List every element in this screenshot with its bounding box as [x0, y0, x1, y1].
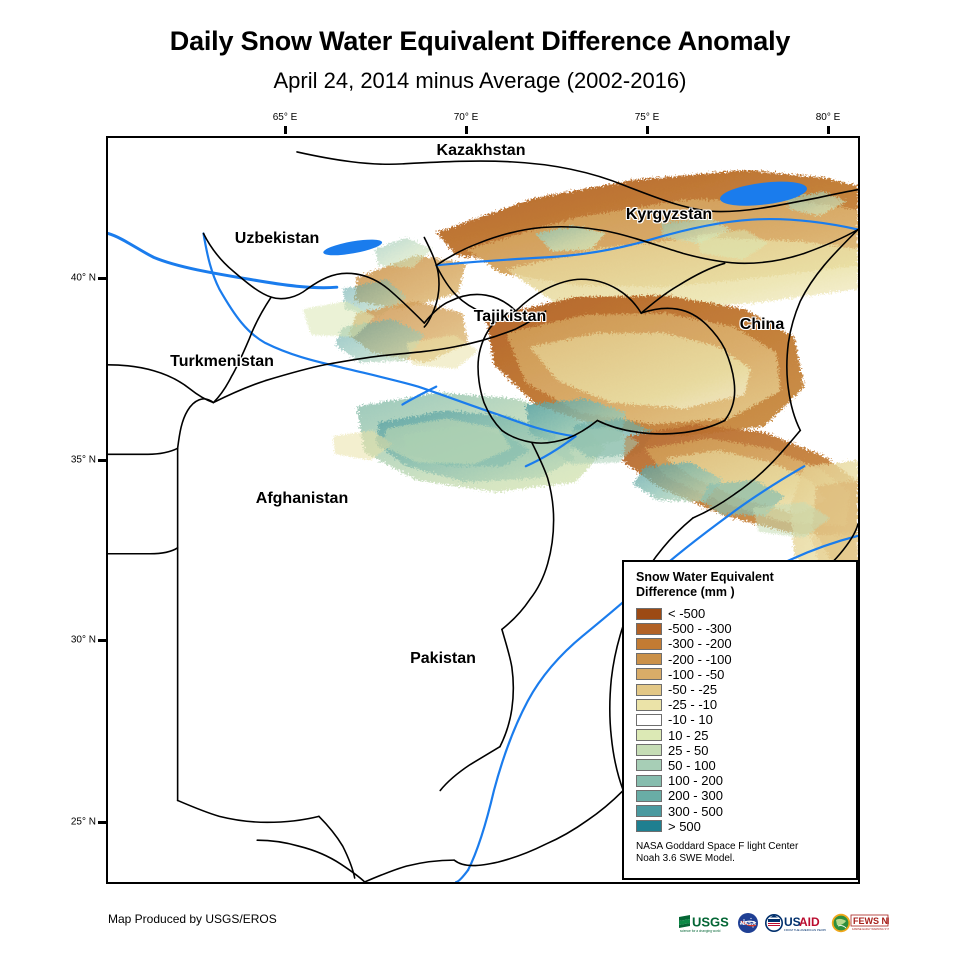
svg-text:USGS: USGS: [692, 915, 729, 930]
legend-source: NASA Goddard Space F light Center Noah 3…: [636, 841, 846, 865]
country-label-turkmenistan: Turkmenistan: [170, 353, 274, 371]
lon-tick: [827, 126, 830, 134]
lat-label: 35° N: [60, 455, 96, 466]
lat-tick: [98, 821, 106, 824]
legend-title-line2: Difference (mm ): [636, 585, 846, 600]
svg-text:NASA: NASA: [740, 921, 756, 927]
legend-label: -25 - -10: [668, 698, 717, 711]
page-title: Daily Snow Water Equivalent Difference A…: [0, 26, 960, 57]
legend-source-line2: Noah 3.6 SWE Model.: [636, 853, 846, 865]
legend-swatch: [636, 699, 662, 711]
legend-label: -10 - 10: [668, 713, 713, 726]
lon-label: 70° E: [454, 112, 479, 123]
legend-row[interactable]: -50 - -25: [636, 682, 846, 697]
lon-tick: [465, 126, 468, 134]
legend-swatch: [636, 608, 662, 620]
map-credit: Map Produced by USGS/EROS: [108, 912, 277, 926]
legend-swatch: [636, 668, 662, 680]
usaid-logo[interactable]: US AID FROM THE AMERICAN PEOPLE: [764, 912, 826, 934]
legend-swatch: [636, 744, 662, 756]
legend-swatch: [636, 623, 662, 635]
lat-label: 25° N: [60, 817, 96, 828]
legend-swatch: [636, 820, 662, 832]
legend-swatch: [636, 653, 662, 665]
svg-text:FEWS NET: FEWS NET: [853, 916, 889, 926]
lon-tick: [284, 126, 287, 134]
legend-row[interactable]: -300 - -200: [636, 636, 846, 651]
legend-swatch: [636, 684, 662, 696]
agency-logos: USGS science for a changing world NASA U…: [678, 908, 889, 938]
svg-text:FROM THE AMERICAN PEOPLE: FROM THE AMERICAN PEOPLE: [784, 928, 826, 932]
legend-title-line1: Snow Water Equivalent: [636, 570, 846, 585]
svg-text:AID: AID: [799, 915, 820, 929]
country-label-kazakhstan: Kazakhstan: [437, 142, 526, 160]
legend-label: -50 - -25: [668, 683, 717, 696]
legend-row[interactable]: -10 - 10: [636, 712, 846, 727]
legend-row[interactable]: 300 - 500: [636, 803, 846, 818]
svg-text:FAMINE EARLY WARNING SYSTEMS N: FAMINE EARLY WARNING SYSTEMS NETWORK: [852, 927, 889, 931]
country-label-afghanistan: Afghanistan: [256, 490, 348, 508]
country-label-tajikistan: Tajikistan: [474, 308, 547, 326]
legend-row[interactable]: < -500: [636, 606, 846, 621]
lon-label: 65° E: [273, 112, 298, 123]
legend-label: -200 - -100: [668, 653, 732, 666]
legend-label: -500 - -300: [668, 622, 732, 635]
legend-swatch: [636, 759, 662, 771]
country-label-pakistan: Pakistan: [410, 650, 476, 668]
legend-row[interactable]: 50 - 100: [636, 758, 846, 773]
legend-row[interactable]: 25 - 50: [636, 743, 846, 758]
lat-label: 40° N: [60, 273, 96, 284]
legend-label: -300 - -200: [668, 637, 732, 650]
legend-label: 25 - 50: [668, 744, 708, 757]
legend-row[interactable]: -100 - -50: [636, 667, 846, 682]
legend-label: 100 - 200: [668, 774, 723, 787]
lat-tick: [98, 459, 106, 462]
legend-label: -100 - -50: [668, 668, 724, 681]
legend-label: < -500: [668, 607, 705, 620]
legend-class-list: < -500 -500 - -300 -300 - -200 -200 - -1…: [636, 606, 846, 834]
country-label-china: China: [740, 316, 784, 334]
legend-panel: Snow Water Equivalent Difference (mm ) <…: [622, 560, 858, 880]
legend-label: 10 - 25: [668, 729, 708, 742]
legend-swatch: [636, 638, 662, 650]
legend-label: 300 - 500: [668, 805, 723, 818]
country-label-uzbekistan: Uzbekistan: [235, 230, 319, 248]
legend-label: > 500: [668, 820, 701, 833]
country-label-kyrgyzstan: Kyrgyzstan: [626, 206, 712, 224]
legend-source-line1: NASA Goddard Space F light Center: [636, 841, 846, 853]
legend-row[interactable]: > 500: [636, 819, 846, 834]
page-subtitle: April 24, 2014 minus Average (2002-2016): [0, 68, 960, 94]
nasa-logo[interactable]: NASA: [737, 912, 759, 934]
legend-row[interactable]: -25 - -10: [636, 697, 846, 712]
legend-label: 50 - 100: [668, 759, 716, 772]
legend-title: Snow Water Equivalent Difference (mm ): [636, 570, 846, 600]
lat-tick: [98, 639, 106, 642]
legend-swatch: [636, 790, 662, 802]
lat-label: 30° N: [60, 635, 96, 646]
legend-row[interactable]: 10 - 25: [636, 728, 846, 743]
legend-row[interactable]: 100 - 200: [636, 773, 846, 788]
legend-swatch: [636, 714, 662, 726]
legend-swatch: [636, 805, 662, 817]
lat-tick: [98, 277, 106, 280]
fewsnet-logo[interactable]: FEWS NET FAMINE EARLY WARNING SYSTEMS NE…: [831, 912, 889, 934]
lon-label: 75° E: [635, 112, 660, 123]
legend-swatch: [636, 729, 662, 741]
legend-row[interactable]: -500 - -300: [636, 621, 846, 636]
usgs-logo[interactable]: USGS science for a changing world: [678, 912, 732, 934]
lon-tick: [646, 126, 649, 134]
lon-label: 80° E: [816, 112, 841, 123]
svg-text:science for a changing world: science for a changing world: [680, 929, 721, 933]
legend-swatch: [636, 775, 662, 787]
legend-label: 200 - 300: [668, 789, 723, 802]
legend-row[interactable]: -200 - -100: [636, 652, 846, 667]
legend-row[interactable]: 200 - 300: [636, 788, 846, 803]
